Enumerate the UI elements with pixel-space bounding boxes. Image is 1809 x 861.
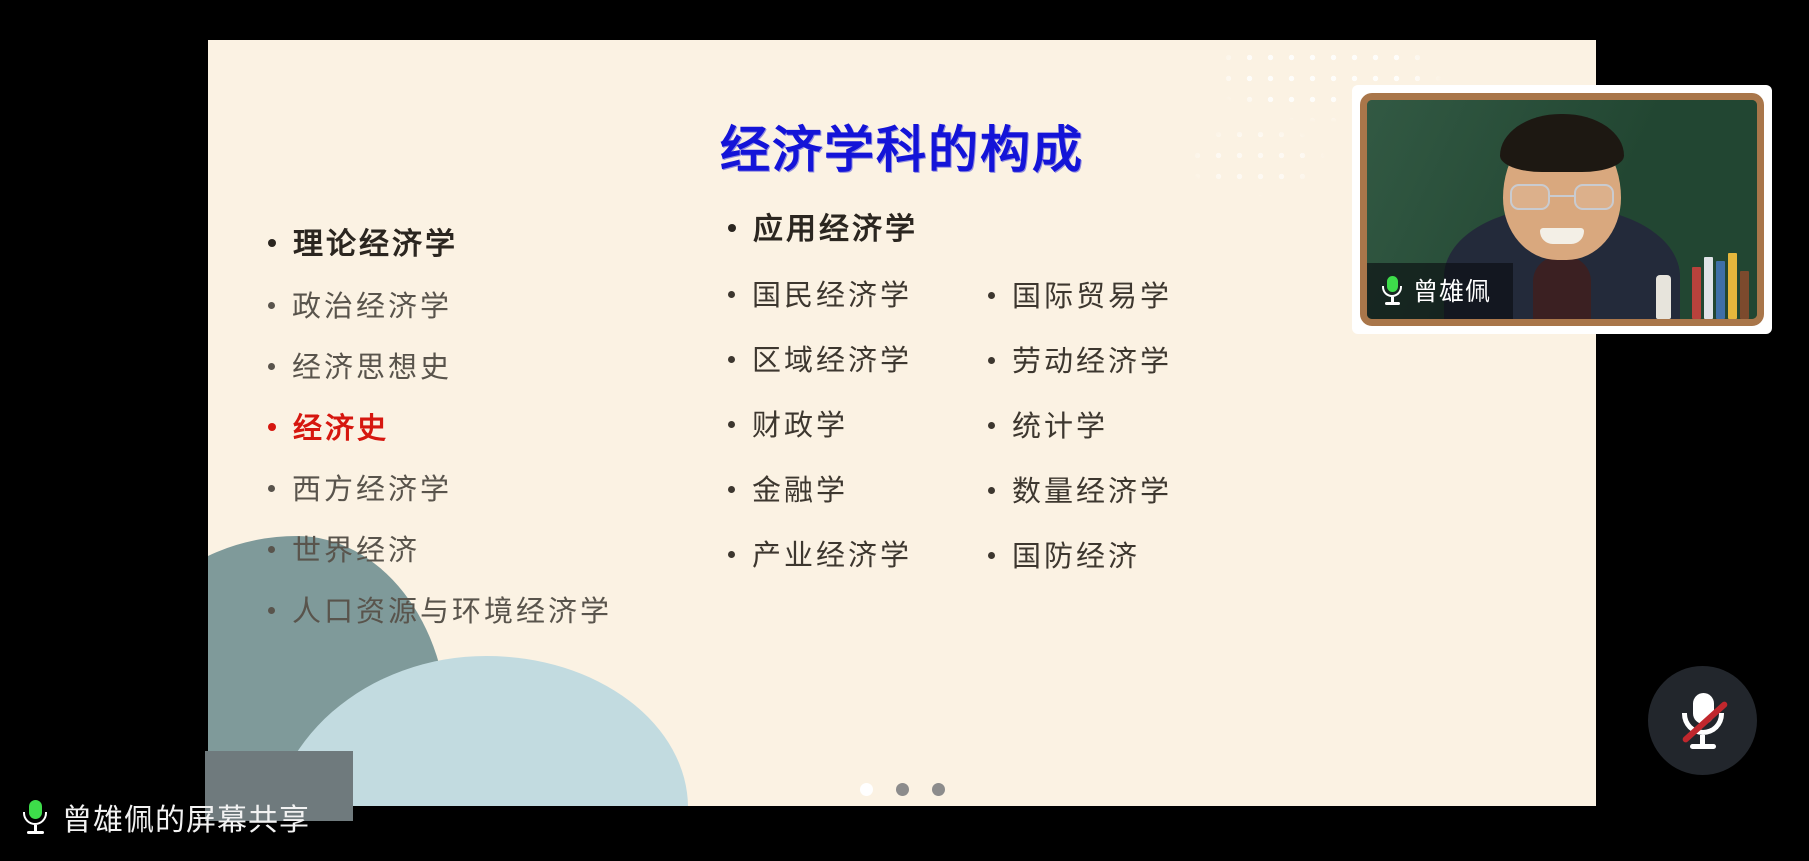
list-item-label: 区域经济学 — [752, 346, 912, 375]
participant-shirt — [1533, 257, 1591, 319]
page-dot-2[interactable] — [896, 783, 909, 796]
list-item: 国防经济 — [988, 542, 1248, 571]
bullet-dot-icon — [268, 546, 275, 553]
list-item-label: 人口资源与环境经济学 — [292, 597, 612, 626]
bottle-object — [1656, 275, 1671, 319]
screen-share-status-label: 曾雄佩的屏幕共享 — [22, 795, 310, 839]
bullet-dot-icon — [268, 363, 275, 370]
list-item-label: 理论经济学 — [293, 230, 458, 260]
participant-name: 曾雄佩 — [1413, 272, 1491, 308]
microphone-icon — [1381, 276, 1403, 304]
participant-smile — [1540, 228, 1584, 244]
list-item: 经济思想史 — [268, 353, 738, 382]
list-item-label: 产业经济学 — [752, 541, 912, 570]
bullet-dot-icon — [268, 239, 276, 247]
list-item: 数量经济学 — [988, 477, 1248, 506]
list-item: 劳动经济学 — [988, 347, 1248, 376]
microphone-muted-icon — [1680, 693, 1726, 749]
list-item-label: 国民经济学 — [752, 281, 912, 310]
list-item-label: 统计学 — [1012, 412, 1108, 441]
bullet-dot-icon — [988, 357, 995, 364]
list-item: 国际贸易学 — [988, 282, 1248, 311]
list-item-label: 经济史 — [293, 414, 389, 443]
bullet-dot-icon — [728, 291, 735, 298]
list-item: 应用经济学 — [728, 215, 988, 245]
bullet-dot-icon — [988, 292, 995, 299]
books-shelf — [1692, 253, 1749, 319]
bullet-dot-icon — [988, 552, 995, 559]
page-dot-1[interactable] — [860, 783, 873, 796]
mute-microphone-button[interactable] — [1648, 666, 1757, 775]
bullet-dot-icon — [268, 423, 276, 431]
video-feed: 曾雄佩 — [1360, 93, 1764, 326]
meeting-screen-share-view: 经济学科的构成 理论经济学 政治经济学 经济思想史 经济史 西方经济学 — [0, 0, 1809, 861]
list-item-label: 劳动经济学 — [1012, 347, 1172, 376]
list-item: 国民经济学 — [728, 281, 988, 310]
list-item: 政治经济学 — [268, 292, 738, 321]
slide-page-indicator[interactable] — [208, 783, 1596, 796]
list-item: 统计学 — [988, 412, 1248, 441]
list-item-label: 世界经济 — [292, 536, 420, 565]
bullet-dot-icon — [728, 356, 735, 363]
bullet-dot-icon — [268, 302, 275, 309]
list-item: 理论经济学 — [268, 230, 738, 260]
list-item: 金融学 — [728, 476, 988, 505]
discipline-column-middle: 应用经济学 国民经济学 区域经济学 财政学 金融学 产业经济学 — [728, 215, 988, 606]
bullet-dot-icon — [728, 421, 735, 428]
list-item-label: 经济思想史 — [292, 353, 452, 382]
discipline-column-right: 国际贸易学 劳动经济学 统计学 数量经济学 国防经济 — [988, 282, 1248, 607]
list-item: 世界经济 — [268, 536, 738, 565]
list-item-label: 西方经济学 — [292, 475, 452, 504]
bullet-dot-icon — [988, 422, 995, 429]
list-item-label: 应用经济学 — [753, 215, 918, 245]
discipline-column-left: 理论经济学 政治经济学 经济思想史 经济史 西方经济学 世界经济 — [268, 230, 738, 658]
list-item: 财政学 — [728, 411, 988, 440]
list-item-label: 金融学 — [752, 476, 848, 505]
list-item-label: 国防经济 — [1012, 542, 1140, 571]
bullet-dot-icon — [988, 487, 995, 494]
list-item: 人口资源与环境经济学 — [268, 597, 738, 626]
list-item-highlighted: 经济史 — [268, 414, 738, 443]
list-item: 西方经济学 — [268, 475, 738, 504]
page-dot-3[interactable] — [932, 783, 945, 796]
screen-share-status-text: 曾雄佩的屏幕共享 — [62, 795, 310, 839]
glasses-icon — [1510, 184, 1614, 210]
microphone-icon — [22, 800, 48, 834]
bullet-dot-icon — [268, 485, 275, 492]
bullet-dot-icon — [728, 486, 735, 493]
bullet-dot-icon — [728, 224, 736, 232]
list-item: 产业经济学 — [728, 541, 988, 570]
bullet-dot-icon — [728, 551, 735, 558]
participant-video-thumbnail[interactable]: 曾雄佩 — [1352, 85, 1772, 334]
list-item: 区域经济学 — [728, 346, 988, 375]
participant-name-badge: 曾雄佩 — [1367, 263, 1513, 319]
list-item-label: 国际贸易学 — [1012, 282, 1172, 311]
list-item-label: 财政学 — [752, 411, 848, 440]
list-item-label: 数量经济学 — [1012, 477, 1172, 506]
bullet-dot-icon — [268, 607, 275, 614]
list-item-label: 政治经济学 — [292, 292, 452, 321]
